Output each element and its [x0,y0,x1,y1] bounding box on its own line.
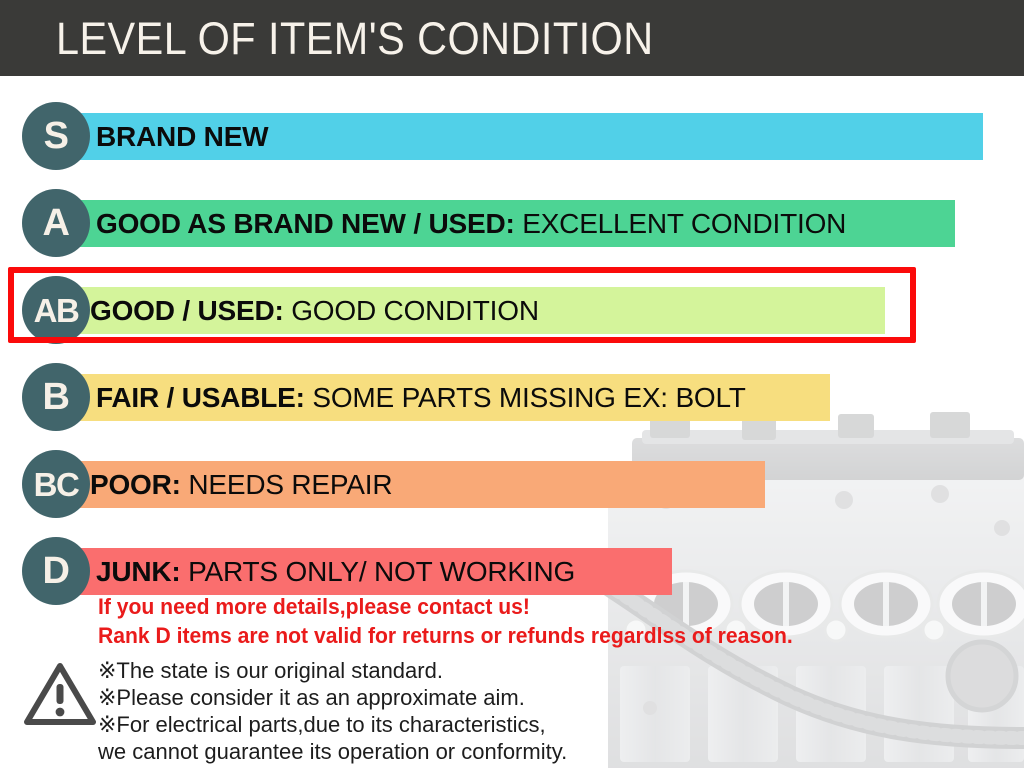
red-notice-block: If you need more details,please contact … [98,592,998,650]
rank-grade-letter: BC [34,468,79,501]
rank-badge-bc: BC [22,450,90,518]
red-notice-line: Rank D items are not valid for returns o… [98,621,962,650]
rank-description-b: FAIR / USABLE: SOME PARTS MISSING EX: BO… [96,381,746,415]
rank-row-b: FAIR / USABLE: SOME PARTS MISSING EX: BO… [0,363,1024,433]
rank-label-detail: EXCELLENT CONDITION [515,208,847,239]
rank-grade-letter: B [43,378,70,416]
highlight-box-ab [8,267,916,343]
rank-description-bc: POOR: NEEDS REPAIR [90,468,392,502]
rank-row-a: GOOD AS BRAND NEW / USED: EXCELLENT COND… [0,189,1024,259]
gray-notice-line: we cannot guarantee its operation or con… [98,738,858,765]
rank-description-d: JUNK: PARTS ONLY/ NOT WORKING [96,555,575,589]
gray-notice-line: ※The state is our original standard. [98,657,858,684]
rank-description-a: GOOD AS BRAND NEW / USED: EXCELLENT COND… [96,207,846,241]
rank-badge-d: D [22,537,90,605]
gray-notice-line: ※Please consider it as an approximate ai… [98,684,858,711]
red-notice-line: If you need more details,please contact … [98,592,962,621]
warning-triangle-icon [24,662,96,726]
gray-notice-line: ※For electrical parts,due to its charact… [98,711,858,738]
rank-label-detail: SOME PARTS MISSING EX: BOLT [305,382,746,413]
rank-label-strong: POOR: [90,469,181,500]
rank-label-strong: JUNK: [96,556,181,587]
rank-label-strong: GOOD AS BRAND NEW / USED: [96,208,515,239]
rank-label-detail: PARTS ONLY/ NOT WORKING [181,556,576,587]
rank-description-s: BRAND NEW [96,120,268,154]
gray-notice-block: ※The state is our original standard. ※Pl… [98,657,858,765]
rank-badge-a: A [22,189,90,257]
rank-row-s: BRAND NEWS [0,102,1024,172]
rank-badge-s: S [22,102,90,170]
rank-row-bc: POOR: NEEDS REPAIRBC [0,450,1024,520]
condition-chart-page: LEVEL OF ITEM'S CONDITION BRAND NEWSGOOD… [0,0,1024,768]
rank-grade-letter: A [43,204,70,242]
rank-badge-b: B [22,363,90,431]
page-title: LEVEL OF ITEM'S CONDITION [56,14,654,64]
rank-grade-letter: D [43,552,70,590]
rank-label-detail: NEEDS REPAIR [181,469,393,500]
rank-grade-letter: S [44,117,69,155]
rank-label-strong: BRAND NEW [96,121,268,152]
rank-label-strong: FAIR / USABLE: [96,382,305,413]
